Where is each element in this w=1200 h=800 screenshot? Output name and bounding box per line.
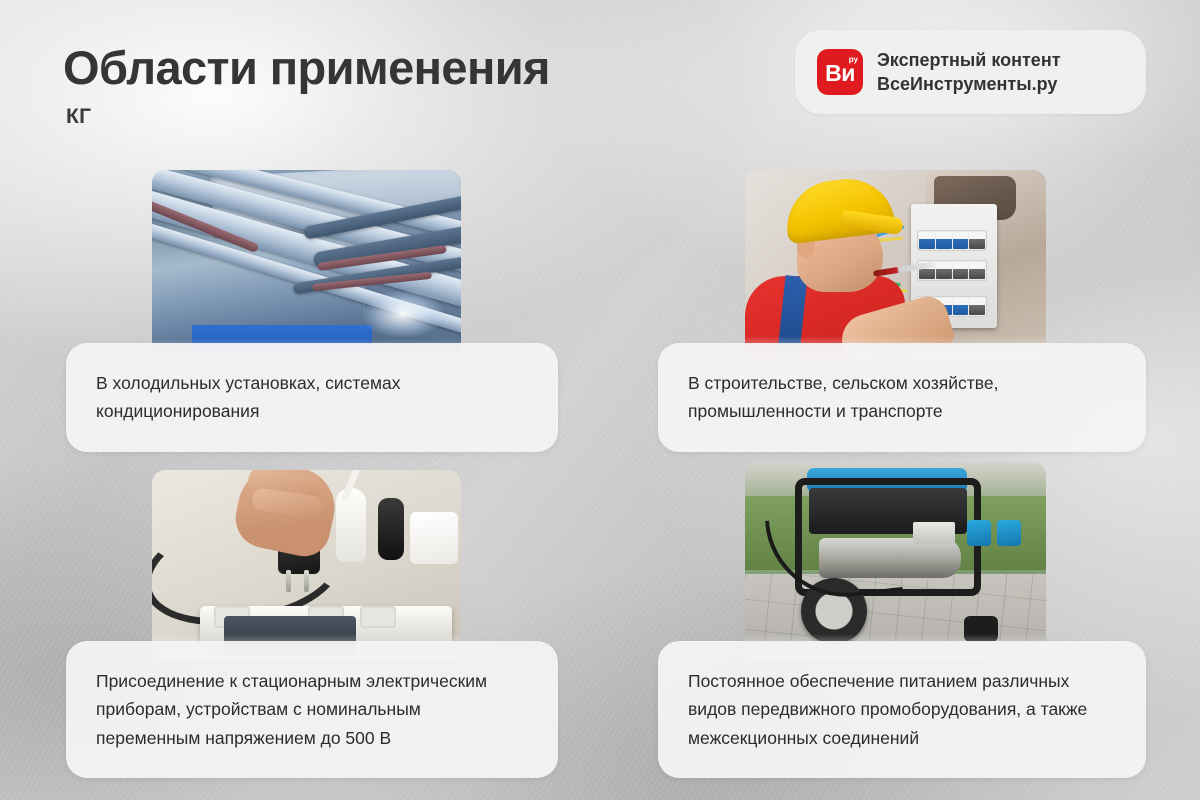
brand-line-1: Экспертный контент [877,49,1061,72]
electrician-scene [745,170,1046,362]
breaker [953,298,969,315]
breaker [953,262,969,279]
vseinstrumenty-logo-icon: Ви ру [817,49,863,95]
breaker [936,232,952,249]
socket [360,606,396,628]
breaker [969,262,985,279]
breaker [919,232,935,249]
breaker [969,232,985,249]
power-outlet [967,520,991,546]
page-subtitle: КГ [66,105,91,129]
breaker [953,232,969,249]
black-plug [378,498,404,560]
photo-industrial-hvac-ducts [152,170,461,365]
voltmeter [913,522,955,544]
brand-mark-letters: Ви [825,62,855,85]
duct-scene [152,170,461,365]
breaker [969,298,985,315]
generator-scene [745,462,1046,660]
power-outlet [997,520,1021,546]
photo-portable-generator [745,462,1046,660]
card-construction: В строительстве, сельском хозяйстве, про… [658,343,1146,452]
card-generators: Постоянное обеспечение питанием различны… [658,641,1146,778]
breaker [936,262,952,279]
card-text: В строительстве, сельском хозяйстве, про… [688,369,1116,426]
white-charger [410,512,458,564]
card-text: В холодильных установках, системах конди… [96,369,528,426]
brand-badge: Ви ру Экспертный контент ВсеИнструменты.… [795,30,1146,114]
photo-electrician-at-panel [745,170,1046,362]
brand-text-block: Экспертный контент ВсеИнструменты.ру [877,49,1061,96]
brand-line-2: ВсеИнструменты.ру [877,73,1061,96]
plug-prong [286,570,291,592]
breaker-row [917,230,987,251]
page-title: Области применения [63,44,550,93]
plug-prong [304,570,309,592]
card-text: Присоединение к стационарным электрическ… [96,667,528,752]
card-appliances: Присоединение к стационарным электрическ… [66,641,558,778]
light-glow [363,291,443,337]
card-refrigeration: В холодильных установках, системах конди… [66,343,558,452]
photo-plug-and-power-strip [152,470,461,660]
plug-scene [152,470,461,660]
brand-mark-superscript: ру [849,56,858,64]
card-text: Постоянное обеспечение питанием различны… [688,667,1116,752]
slide-canvas: Области применения КГ Ви ру Экспертный к… [0,0,1200,800]
